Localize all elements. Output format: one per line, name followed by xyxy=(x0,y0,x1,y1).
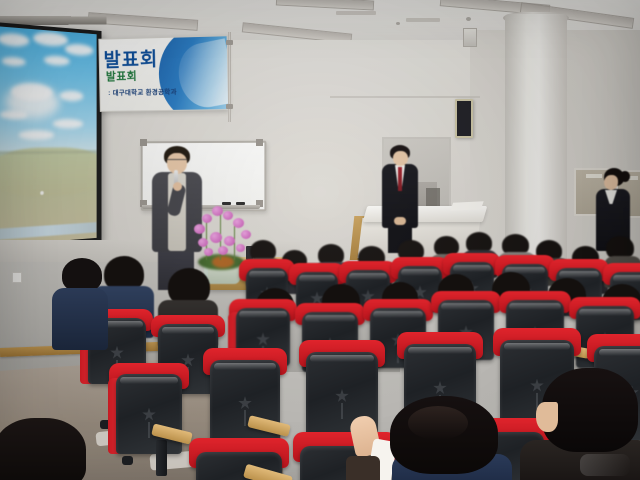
attendee-jacket xyxy=(52,288,108,350)
cloud xyxy=(33,31,68,47)
seat-foot xyxy=(122,456,133,465)
ceiling-vent xyxy=(406,18,440,22)
seat-highlight xyxy=(239,311,287,318)
wall-power-outlet xyxy=(12,272,22,283)
orchid-bloom xyxy=(223,211,233,220)
orchid-bloom xyxy=(210,232,222,243)
orchid-bloom xyxy=(194,224,205,234)
auditorium-seat[interactable] xyxy=(210,360,280,446)
banner-clip xyxy=(226,40,233,45)
slide-caption-text xyxy=(0,222,97,229)
attendee-sleeve xyxy=(346,456,380,480)
foreground-attendee xyxy=(384,396,514,480)
cloud xyxy=(0,110,28,119)
cloud xyxy=(60,90,84,101)
ceiling-fitting xyxy=(466,17,471,21)
banner-subhead: 발표회 xyxy=(106,68,138,85)
eyeglasses-icon xyxy=(167,159,187,164)
field xyxy=(0,147,97,198)
seat-highlight xyxy=(120,377,178,384)
armrest-post xyxy=(156,440,167,476)
seat-highlight xyxy=(373,311,422,318)
cloud xyxy=(18,130,54,140)
seat-highlight xyxy=(613,275,640,282)
attendee-hair xyxy=(62,258,102,292)
seat-back xyxy=(210,360,280,446)
seat-highlight xyxy=(453,265,492,272)
foreground-attendee xyxy=(520,368,640,480)
foreground-attendee xyxy=(0,418,90,480)
ceiling-fitting xyxy=(396,22,400,25)
seat-highlight xyxy=(408,347,471,354)
hair-highlight xyxy=(408,406,468,440)
orchid-bloom xyxy=(236,244,245,252)
presenter-hand xyxy=(173,182,182,191)
jacket-sheen xyxy=(580,454,630,476)
whiteboard-corner xyxy=(256,139,263,146)
auditorium-photo: 발표회 발표회 : 대구대학교 환경공학과 xyxy=(0,0,640,480)
seat-highlight xyxy=(599,349,640,356)
banner-affiliation: : 대구대학교 환경공학과 xyxy=(108,86,177,97)
seat-highlight xyxy=(249,271,286,278)
seat-highlight xyxy=(305,315,354,322)
slide-caption-bar xyxy=(0,222,97,240)
seat-highlight xyxy=(401,269,440,276)
cloud xyxy=(2,56,26,66)
seat-highlight xyxy=(299,275,336,282)
suitman-hands xyxy=(394,217,406,225)
red-necktie xyxy=(398,167,402,191)
seat-highlight xyxy=(579,309,630,316)
seat-highlight xyxy=(162,327,215,334)
seat-highlight xyxy=(349,273,388,280)
seat-highlight xyxy=(214,363,276,370)
cloud xyxy=(65,43,94,56)
standing-man-in-suit xyxy=(380,145,420,245)
auditorium-seat[interactable] xyxy=(116,374,182,454)
orchid-bloom xyxy=(224,236,235,246)
suitman-face xyxy=(393,151,408,166)
wall-seam xyxy=(330,96,480,98)
ceiling-vent xyxy=(336,11,376,15)
seat-highlight xyxy=(441,303,490,310)
projected-image xyxy=(0,26,97,246)
attendee-hair xyxy=(0,418,86,480)
seat-back xyxy=(116,374,182,454)
orchid-bloom xyxy=(202,214,212,223)
event-banner: 발표회 발표회 : 대구대학교 환경공학과 xyxy=(98,35,229,112)
cloud xyxy=(0,32,29,47)
seated-attendee-left xyxy=(54,258,108,378)
orchid-bloom xyxy=(198,238,208,247)
orchid-bloom xyxy=(204,248,213,256)
banner-clip xyxy=(226,104,233,109)
woman-hair-bun xyxy=(620,171,630,182)
wall-speaker xyxy=(455,99,473,138)
orchid-bloom xyxy=(233,218,244,228)
ceiling-speaker xyxy=(463,28,477,47)
orchid-bloom xyxy=(241,230,251,239)
orchid-bloom xyxy=(212,206,223,216)
seat-highlight xyxy=(559,271,599,278)
seat-highlight xyxy=(504,343,569,350)
seat-highlight xyxy=(509,303,560,310)
projection-screen xyxy=(0,22,102,252)
cloud xyxy=(53,119,84,129)
attendee-face xyxy=(536,402,558,432)
orchid-bloom xyxy=(218,246,228,255)
cloud xyxy=(44,55,70,66)
whiteboard-corner xyxy=(140,139,147,146)
orchid-accent-foliage xyxy=(212,256,234,268)
seat-highlight xyxy=(310,355,373,362)
woman-face xyxy=(604,175,618,190)
